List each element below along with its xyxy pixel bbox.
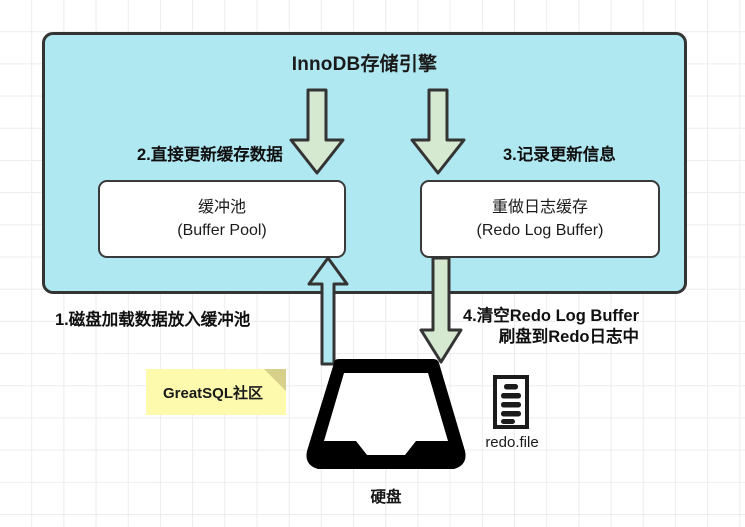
engine-title: InnoDB存储引擎 bbox=[45, 49, 684, 76]
sticky-note-text: GreatSQL社区 bbox=[163, 382, 263, 403]
hard-disk-tray-icon bbox=[304, 357, 468, 475]
step-2-label: 2.直接更新缓存数据 bbox=[137, 145, 283, 166]
arrow-down-icon-step4 bbox=[418, 256, 464, 366]
redo-file-caption: redo.file bbox=[473, 434, 551, 451]
buffer-pool-label-cn: 缓冲池 bbox=[198, 196, 246, 219]
step-3-label: 3.记录更新信息 bbox=[503, 145, 616, 166]
redo-log-buffer-label-cn: 重做日志缓存 bbox=[492, 196, 588, 219]
sticky-note-fold-icon bbox=[264, 369, 286, 391]
step-4-label: 4.清空Redo Log Buffer 刷盘到Redo日志中 bbox=[463, 306, 639, 349]
step-1-label: 1.磁盘加载数据放入缓冲池 bbox=[55, 310, 250, 331]
redo-log-buffer-box: 重做日志缓存 (Redo Log Buffer) bbox=[420, 180, 660, 258]
diagram-canvas: InnoDB存储引擎 2.直接更新缓存数据 3.记录更新信息 缓冲池 (Buff… bbox=[0, 0, 745, 527]
arrow-down-icon-step3 bbox=[408, 88, 468, 176]
hard-disk-caption: 硬盘 bbox=[304, 485, 468, 507]
buffer-pool-box: 缓冲池 (Buffer Pool) bbox=[98, 180, 346, 258]
redo-log-buffer-label-en: (Redo Log Buffer) bbox=[477, 219, 604, 242]
sticky-note-watermark: GreatSQL社区 bbox=[146, 369, 286, 415]
buffer-pool-label-en: (Buffer Pool) bbox=[177, 219, 267, 242]
arrow-up-icon-step1 bbox=[307, 256, 349, 366]
step-4-label-line1: 4.清空Redo Log Buffer bbox=[463, 306, 639, 327]
document-file-icon bbox=[493, 375, 529, 429]
arrow-down-icon-step2 bbox=[287, 88, 347, 176]
step-4-label-line2: 刷盘到Redo日志中 bbox=[463, 327, 639, 348]
